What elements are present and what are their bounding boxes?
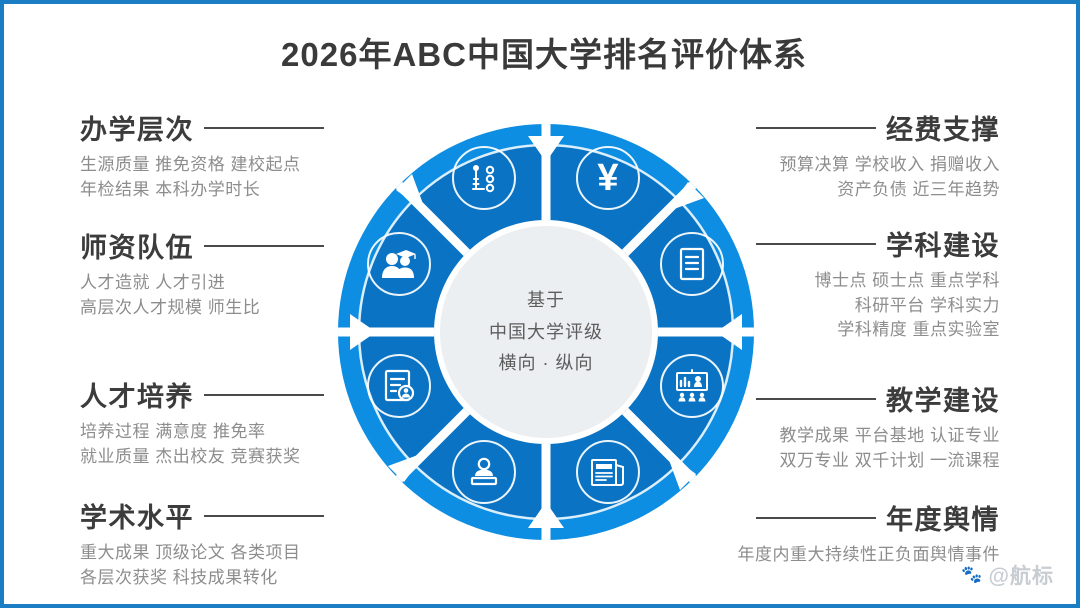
category-block-banxuecengci: 办学层次 生源质量 推免资格 建校起点 年检结果 本科办学时长 [80,108,324,202]
category-block-xueshushuiping: 学术水平 重大成果 顶级论文 各类项目 各层次获奖 科技成果转化 [80,496,324,590]
detail-line: 学科精度 重点实验室 [756,318,1000,343]
detail-line: 年检结果 本科办学时长 [80,178,324,203]
yen-currency-icon[interactable]: ¥ [576,146,640,210]
detail-line: 各层次获奖 科技成果转化 [80,566,324,591]
page-title: 2026年ABC中国大学排名评价体系 [4,28,1080,76]
category-details: 教学成果 平台基地 认证专业 双万专业 双千计划 一流课程 [756,424,1000,473]
category-heading: 学术水平 [80,496,324,535]
detail-line: 双万专业 双千计划 一流课程 [756,449,1000,474]
category-block-niandouyuqing: 年度舆情 年度内重大持续性正负面舆情事件 [738,498,1001,568]
heading-rule [204,515,324,517]
heading-rule [756,517,876,519]
category-heading: 人才培养 [80,375,324,414]
heading-rule [756,127,876,129]
detail-line: 生源质量 推免资格 建校起点 [80,153,324,178]
category-details: 生源质量 推免资格 建校起点 年检结果 本科办学时长 [80,153,324,202]
heading-rule [756,243,876,245]
category-title: 学科建设 [886,224,1000,263]
category-title: 年度舆情 [886,498,1000,537]
category-heading: 学科建设 [756,224,1000,263]
newspaper-icon[interactable] [576,440,640,504]
category-details: 博士点 硕士点 重点学科 科研平台 学科实力 学科精度 重点实验室 [756,269,1000,343]
center-hub [440,226,652,438]
category-title: 经费支撑 [886,108,1000,147]
infographic-frame: 2026年ABC中国大学排名评价体系 办学层次 生源质量 推免资格 建校起点 年… [0,0,1080,608]
watermark: 🐾 @航标 [961,560,1054,590]
category-title: 人才培养 [80,375,194,414]
detail-line: 科研平台 学科实力 [756,294,1000,319]
category-details: 重大成果 顶级论文 各类项目 各层次获奖 科技成果转化 [80,541,324,590]
watermark-text: @航标 [989,560,1054,590]
detail-line: 博士点 硕士点 重点学科 [756,269,1000,294]
category-block-jingfeizhicheng: 经费支撑 预算决算 学校收入 捐赠收入 资产负债 近三年趋势 [756,108,1000,202]
category-block-jiaoxuejianshe: 教学建设 教学成果 平台基地 认证专业 双万专业 双千计划 一流课程 [756,379,1000,473]
document-person-icon[interactable] [367,354,431,418]
category-details: 预算决算 学校收入 捐赠收入 资产负债 近三年趋势 [756,153,1000,202]
category-block-xuekejianshe: 学科建设 博士点 硕士点 重点学科 科研平台 学科实力 学科精度 重点实验室 [756,224,1000,343]
category-heading: 经费支撑 [756,108,1000,147]
heading-rule [204,394,324,396]
paw-icon: 🐾 [961,565,983,585]
detail-line: 就业质量 杰出校友 竞赛获奖 [80,445,324,470]
heading-rule [204,127,324,129]
category-details: 人才造就 人才引进 高层次人才规模 师生比 [80,271,324,320]
evaluation-wheel: 基于 中国大学评级 横向 · 纵向 ¥ [336,122,756,542]
detail-line: 人才造就 人才引进 [80,271,324,296]
detail-line: 培养过程 满意度 推免率 [80,420,324,445]
category-title: 办学层次 [80,108,194,147]
wheel-graphic [336,122,756,542]
category-title: 学术水平 [80,496,194,535]
category-block-rencaipeiyang: 人才培养 培养过程 满意度 推免率 就业质量 杰出校友 竞赛获奖 [80,375,324,469]
category-title: 师资队伍 [80,226,194,265]
heading-rule [204,245,324,247]
graduate-teacher-icon[interactable] [367,232,431,296]
category-details: 培养过程 满意度 推免率 就业质量 杰出校友 竞赛获奖 [80,420,324,469]
category-title: 教学建设 [886,379,1000,418]
levels-icon[interactable] [452,146,516,210]
detail-line: 高层次人才规模 师生比 [80,296,324,321]
heading-rule [756,398,876,400]
presentation-icon[interactable] [660,354,724,418]
detail-line: 预算决算 学校收入 捐赠收入 [756,153,1000,178]
yen-glyph: ¥ [597,159,618,197]
detail-line: 重大成果 顶级论文 各类项目 [80,541,324,566]
detail-line: 资产负债 近三年趋势 [756,178,1000,203]
category-heading: 年度舆情 [738,498,1001,537]
category-heading: 办学层次 [80,108,324,147]
category-heading: 教学建设 [756,379,1000,418]
category-heading: 师资队伍 [80,226,324,265]
detail-line: 教学成果 平台基地 认证专业 [756,424,1000,449]
category-block-shizisuiwu: 师资队伍 人才造就 人才引进 高层次人才规模 师生比 [80,226,324,320]
award-person-icon[interactable] [452,440,516,504]
book-icon[interactable] [660,232,724,296]
